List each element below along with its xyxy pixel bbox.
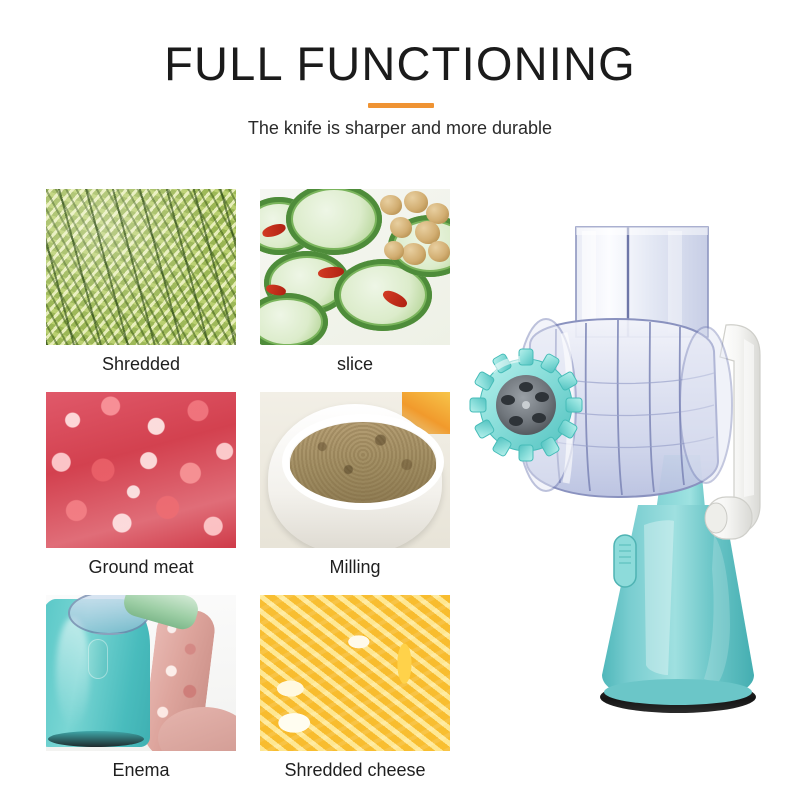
feature-label-shredded-cheese: Shredded cheese — [260, 758, 450, 782]
stuffer-base — [48, 731, 144, 747]
shredded-vegetable-photo — [46, 189, 236, 345]
peanut — [390, 217, 412, 238]
cucumber-slice-photo — [260, 189, 450, 345]
peanut — [384, 241, 404, 260]
feature-image-ground-meat — [46, 392, 236, 548]
bowl-rim — [282, 414, 444, 510]
ground-meat-photo — [46, 392, 236, 548]
feature-grid: Shredded — [46, 189, 450, 779]
feature-label-ground-meat: Ground meat — [46, 555, 236, 579]
drum-right-rim — [680, 327, 732, 483]
peanut — [404, 191, 428, 213]
white-bowl — [268, 404, 442, 548]
feature-tile-shredded-cheese: Shredded cheese — [260, 595, 450, 782]
sausage-stuffing-photo — [46, 595, 236, 751]
feature-tile-enema: Enema — [46, 595, 236, 782]
title-divider — [368, 103, 434, 108]
shredded-cheese-photo — [260, 595, 450, 751]
feature-label-milling: Milling — [260, 555, 450, 579]
header-banner: FULL FUNCTIONING The knife is sharper an… — [0, 0, 800, 160]
feature-label-enema: Enema — [46, 758, 236, 782]
feature-image-milling — [260, 392, 450, 548]
feature-label-slice: slice — [260, 352, 450, 376]
peanut — [428, 241, 450, 262]
feature-image-slice — [260, 189, 450, 345]
feature-image-shredded — [46, 189, 236, 345]
page-subtitle: The knife is sharper and more durable — [0, 115, 800, 141]
milled-powder-photo — [260, 392, 450, 548]
feature-tile-slice: slice — [260, 189, 450, 376]
feature-image-enema — [46, 595, 236, 751]
base-inner — [604, 679, 752, 705]
peanut — [380, 195, 402, 215]
suction-release-lever[interactable] — [614, 535, 636, 587]
feature-tile-ground-meat: Ground meat — [46, 392, 236, 579]
peanut — [402, 243, 426, 265]
feature-tile-shredded: Shredded — [46, 189, 236, 376]
feature-image-shredded-cheese — [260, 595, 450, 751]
feature-label-shredded: Shredded — [46, 352, 236, 376]
page-title: FULL FUNCTIONING — [0, 36, 800, 92]
feature-tile-milling: Milling — [260, 392, 450, 579]
stuffer-knob — [88, 639, 108, 679]
product-photo — [468, 205, 800, 750]
cucumber-slice — [286, 189, 382, 255]
